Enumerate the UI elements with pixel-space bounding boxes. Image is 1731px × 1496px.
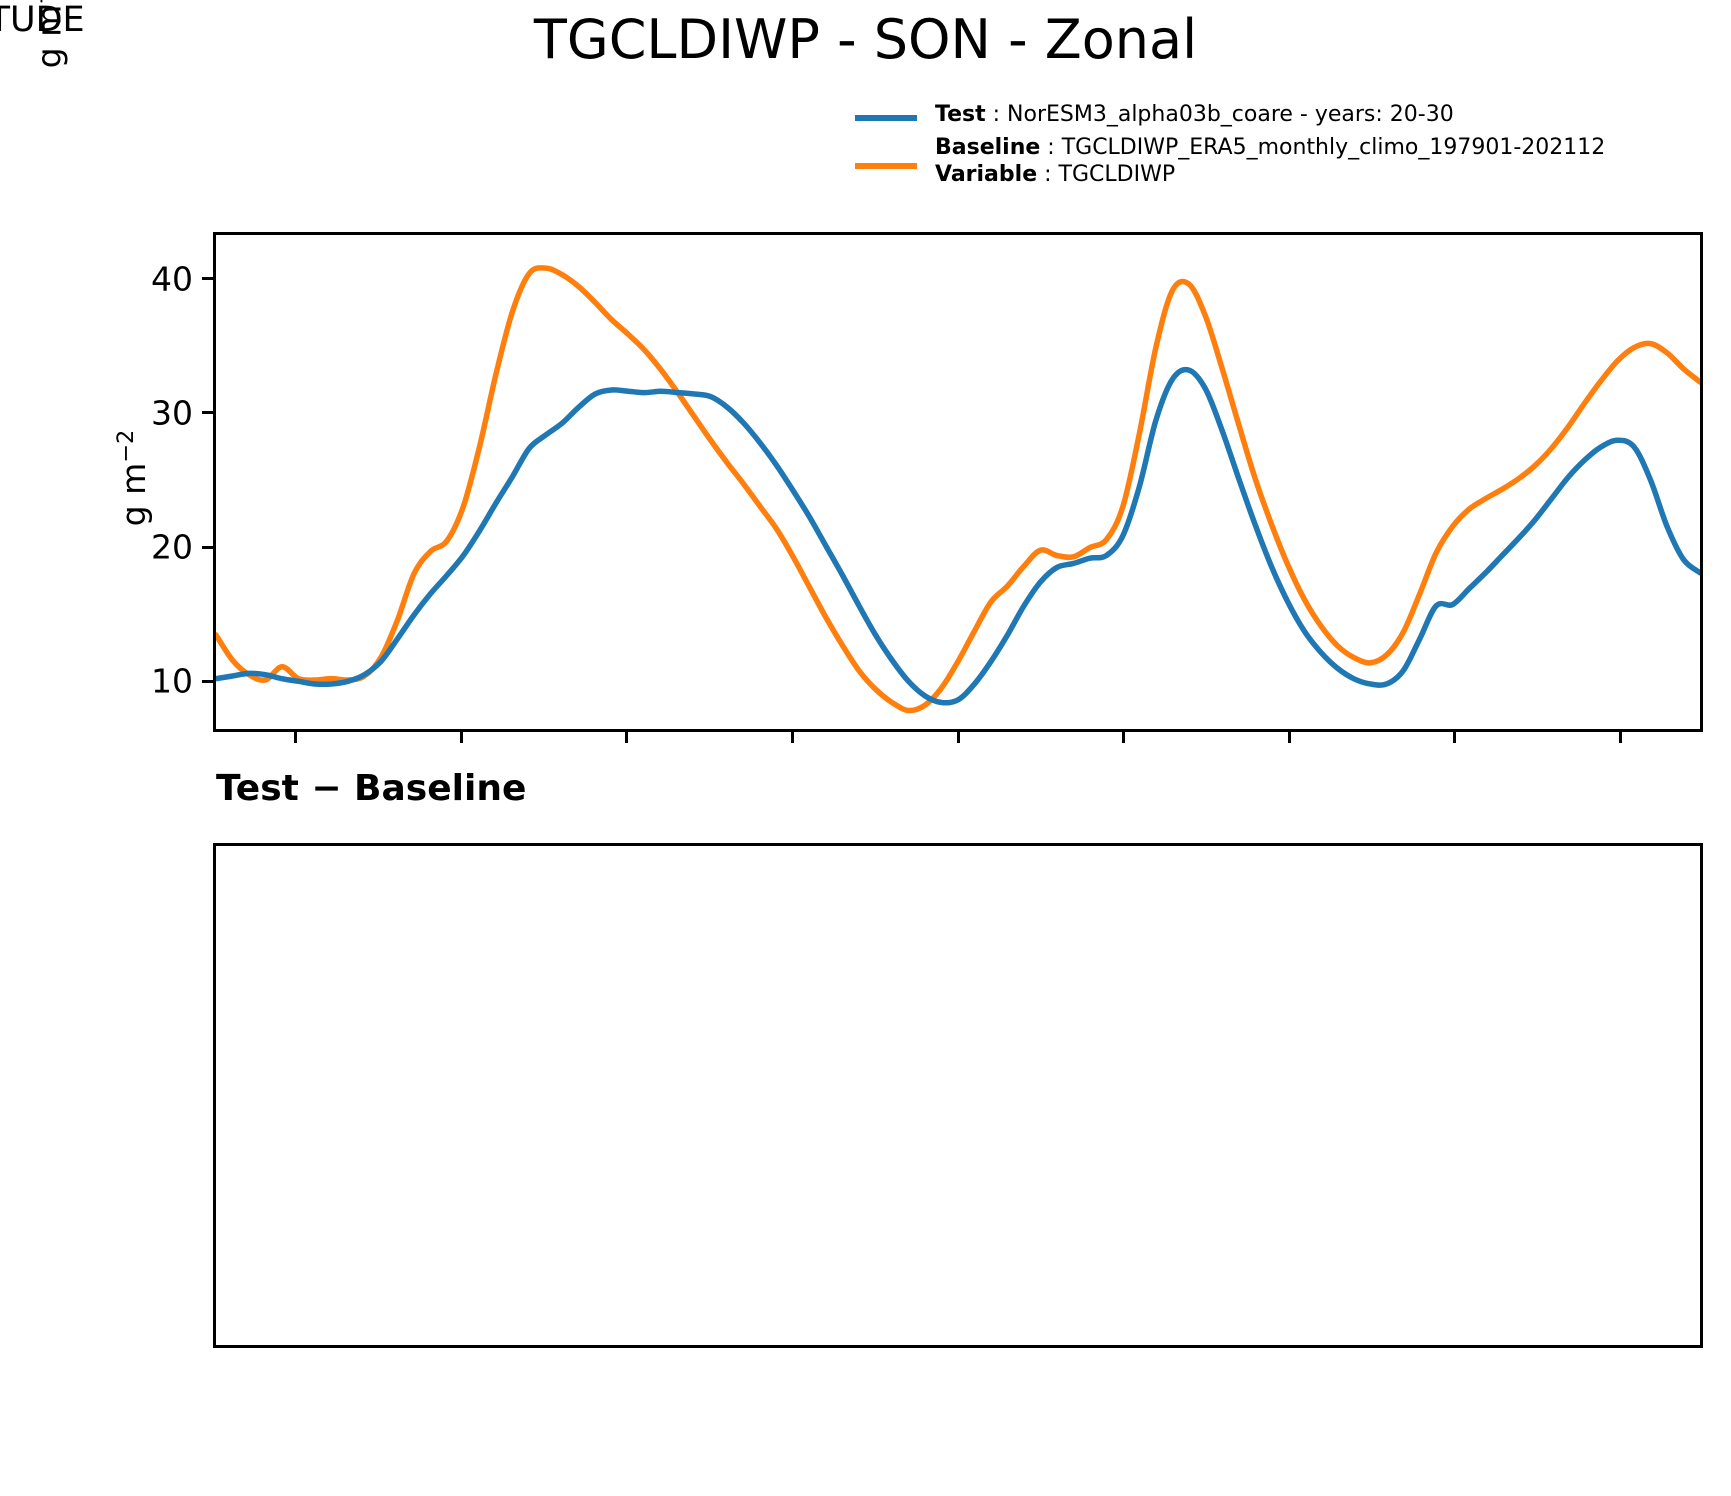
legend-entry-test: Test : NorESM3_alpha03b_coare - years: 2… — [855, 104, 1675, 137]
test-curve — [216, 370, 1700, 703]
difference-curve-group — [216, 846, 1700, 1345]
zonal-mean-figure: TGCLDIWP - SON - Zonal Test : NorESM3_al… — [0, 0, 1731, 1496]
legend-label-variable: Variable : TGCLDIWP — [935, 164, 1175, 186]
y-tick-mark — [202, 277, 213, 280]
y-tick-label: 10 — [151, 662, 193, 701]
legend-sep-test: : — [986, 102, 1007, 127]
legend-sep-baseline: : — [1040, 135, 1061, 160]
zonal-mean-curves — [216, 235, 1700, 729]
y-tick-mark — [202, 411, 213, 414]
legend-entry-variable: Variable : TGCLDIWP — [855, 170, 1675, 198]
x-axis-title: LATITUDE — [0, 0, 85, 40]
x-tick-mark — [791, 732, 794, 743]
legend-sep-variable: : — [1037, 162, 1058, 187]
y-tick-label: 20 — [151, 528, 193, 567]
difference-panel-subtitle: Test − Baseline — [216, 768, 526, 809]
y-tick-label: 30 — [151, 393, 193, 432]
legend-key-baseline: Baseline — [935, 135, 1040, 160]
legend-key-variable: Variable — [935, 162, 1037, 187]
legend-value-variable: TGCLDIWP — [1059, 162, 1176, 187]
difference-plot-area — [213, 843, 1703, 1348]
baseline-curve — [216, 268, 1700, 711]
x-tick-mark — [294, 732, 297, 743]
x-tick-mark — [625, 732, 628, 743]
y-tick-mark — [202, 546, 213, 549]
y-tick-label: 40 — [151, 259, 193, 298]
legend-value-test: NorESM3_alpha03b_coare - years: 20-30 — [1007, 102, 1454, 127]
zonal-mean-plot-area — [213, 232, 1703, 732]
legend-key-test: Test — [935, 102, 986, 127]
x-tick-mark — [1122, 732, 1125, 743]
x-tick-mark — [957, 732, 960, 743]
legend-label-test: Test : NorESM3_alpha03b_coare - years: 2… — [935, 104, 1454, 126]
x-tick-mark — [1453, 732, 1456, 743]
legend-swatch-test — [855, 115, 917, 121]
x-tick-mark — [1288, 732, 1291, 743]
legend-value-baseline: TGCLDIWP_ERA5_monthly_climo_197901-20211… — [1062, 135, 1606, 160]
legend-label-baseline: Baseline : TGCLDIWP_ERA5_monthly_climo_1… — [935, 137, 1605, 159]
zonal-mean-y-axis-title: g m−2 — [113, 408, 153, 548]
x-tick-mark — [460, 732, 463, 743]
y-axis-exponent-top: −2 — [113, 430, 139, 463]
legend-swatch-baseline — [855, 163, 917, 169]
legend: Test : NorESM3_alpha03b_coare - years: 2… — [855, 104, 1675, 198]
y-axis-unit-top: g m — [114, 463, 153, 527]
figure-title: TGCLDIWP - SON - Zonal — [0, 8, 1731, 71]
x-tick-mark — [1619, 732, 1622, 743]
y-tick-mark — [202, 680, 213, 683]
